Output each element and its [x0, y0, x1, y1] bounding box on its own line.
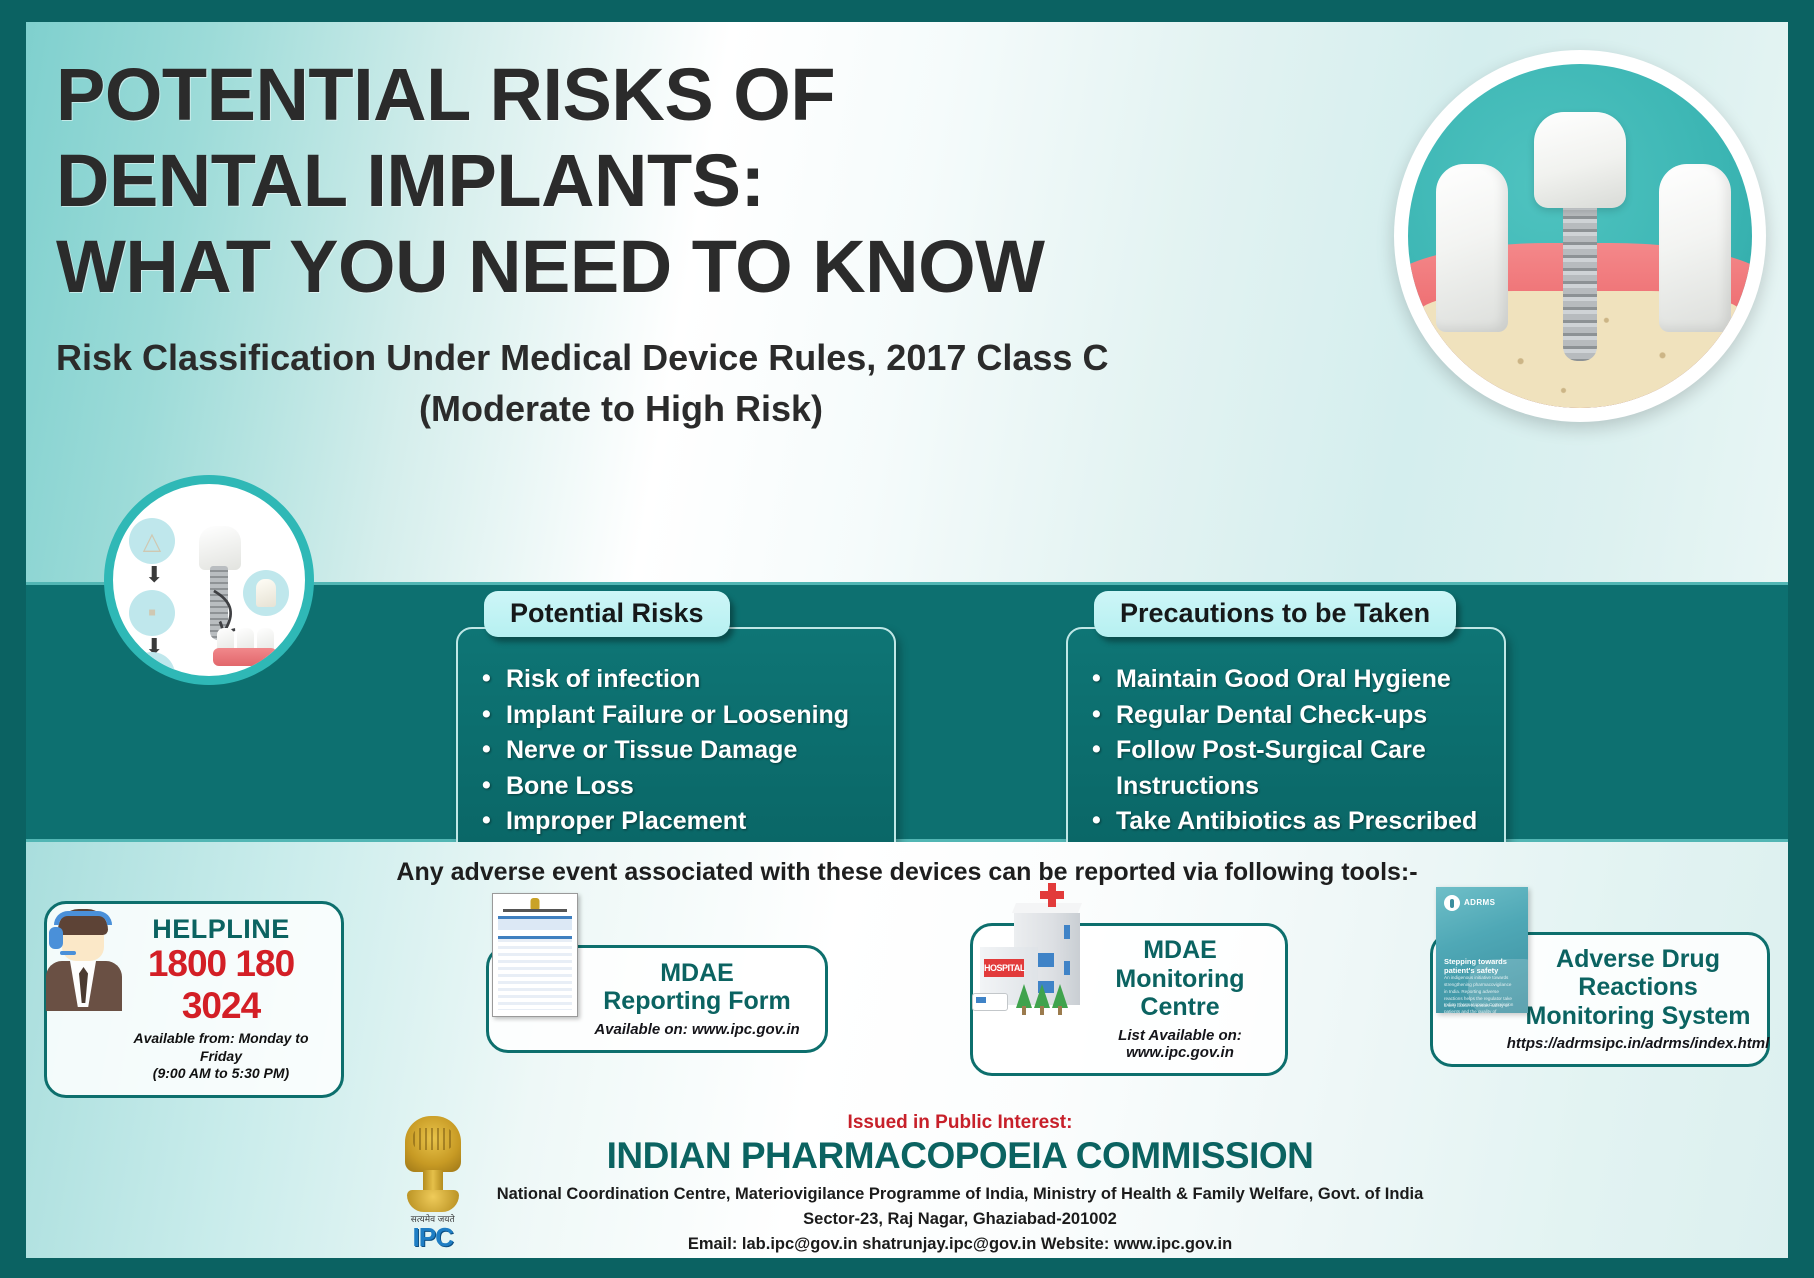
list-item: Maintain Good Oral Hygiene: [1086, 663, 1488, 697]
abutment-step-icon: ▪: [129, 590, 175, 636]
emblem-stem: [423, 1170, 443, 1192]
precautions-body: Maintain Good Oral Hygiene Regular Denta…: [1066, 627, 1506, 859]
reporting-instruction: Any adverse event associated with these …: [26, 858, 1788, 887]
adrms-title-line1: Adverse Drug: [1507, 945, 1770, 974]
list-item: Follow Post-Surgical Care: [1086, 734, 1488, 768]
organization-name: INDIAN PHARMACOPOEIA COMMISSION: [497, 1136, 1424, 1177]
helpline-availability-line2: (9:00 AM to 5:30 PM): [117, 1065, 325, 1083]
helpline-label: HELPLINE: [117, 914, 325, 945]
risks-precautions-band: △ ⬇ ▪ ⬇ ⚇ ⤵ Potential Risks: [26, 582, 1788, 842]
mdae-centre-availability: List Available on: www.ipc.gov.in: [1091, 1027, 1269, 1061]
header-text-block: POTENTIAL RISKS OF DENTAL IMPLANTS: WHAT…: [26, 22, 1788, 430]
tree-icon-3: [1052, 985, 1068, 1015]
poster-inner: POTENTIAL RISKS OF DENTAL IMPLANTS: WHAT…: [26, 22, 1788, 1258]
page-title-line-1: POTENTIAL RISKS OF: [56, 52, 1788, 138]
mdae-form-text: MDAE Reporting Form Available on: www.ip…: [594, 959, 799, 1038]
list-item: Implant Failure or Loosening: [476, 699, 878, 733]
address-line-3: Email: lab.ipc@gov.in shatrunjay.ipc@gov…: [497, 1232, 1424, 1257]
ipc-emblem-icon: सत्यमेव जयते IPC: [391, 1116, 475, 1248]
adrms-brochure-body: An indigenous initiative towards strengt…: [1444, 975, 1514, 1013]
risk-classification-subtitle: Risk Classification Under Medical Device…: [56, 335, 1788, 382]
adrms-brochure-heading: Stepping towards patient's safety: [1444, 957, 1508, 976]
precautions-heading: Precautions to be Taken: [1094, 591, 1456, 637]
footer-section: सत्यमेव जयते IPC Issued in Public Intere…: [26, 1112, 1788, 1257]
diagram-gum-result-icon: [213, 626, 277, 666]
adrms-brand-label: ADRMS: [1464, 898, 1495, 907]
mdae-form-availability: Available on: www.ipc.gov.in: [594, 1021, 799, 1038]
band-cards: Potential Risks Risk of infection Implan…: [456, 607, 1754, 821]
adrms-brochure-icon: ADRMS Stepping towards patient's safety …: [1436, 887, 1528, 1013]
ipc-logo-label: IPC: [401, 1222, 465, 1253]
support-agent-icon: [40, 905, 126, 1009]
list-item: Improper Placement: [476, 805, 878, 839]
list-item-continuation: Instructions: [1086, 770, 1488, 804]
potential-risks-list: Risk of infection Implant Failure or Loo…: [476, 663, 878, 839]
helpline-number: 1800 180 3024: [117, 943, 325, 1027]
list-item: Nerve or Tissue Damage: [476, 734, 878, 768]
diagram-crown-icon: [199, 526, 241, 570]
tools-row: HELPLINE 1800 180 3024 Available from: M…: [26, 901, 1788, 1098]
adrms-logo-icon: [1444, 895, 1460, 911]
down-arrow-icon-1: ⬇: [145, 562, 163, 588]
band-inner: △ ⬇ ▪ ⬇ ⚇ ⤵ Potential Risks: [26, 585, 1788, 839]
reporting-form-document-icon: [492, 893, 578, 1017]
list-item: Take Antibiotics as Prescribed: [1086, 805, 1488, 839]
footer-text-block: Issued in Public Interest: INDIAN PHARMA…: [497, 1112, 1424, 1257]
helpline-availability-line1: Available from: Monday to Friday: [117, 1030, 325, 1065]
precautions-card: Precautions to be Taken Maintain Good Or…: [1066, 607, 1506, 821]
adrms-url[interactable]: https://adrmsipc.in/adrms/index.html: [1507, 1035, 1770, 1052]
address-line-1: National Coordination Centre, Materiovig…: [497, 1182, 1424, 1207]
list-item: Regular Dental Check-ups: [1086, 699, 1488, 733]
red-cross-icon-h: [1040, 891, 1064, 899]
crown-step-icon: △: [129, 518, 175, 564]
precautions-list: Maintain Good Oral Hygiene Regular Denta…: [1086, 663, 1488, 839]
gum-bar: [213, 648, 277, 666]
mdae-form-title-line1: MDAE: [594, 959, 799, 988]
implant-procedure-diagram: △ ⬇ ▪ ⬇ ⚇ ⤵: [104, 475, 314, 685]
tool-adrms[interactable]: ADRMS Stepping towards patient's safety …: [1430, 901, 1770, 1098]
tree-icon-1: [1016, 985, 1032, 1015]
mdae-form-title-line2: Reporting Form: [594, 987, 799, 1016]
mdae-centre-title-line1: MDAE: [1091, 936, 1269, 965]
tree-icon-2: [1034, 985, 1050, 1015]
list-item: Risk of infection: [476, 663, 878, 697]
hospital-building-icon: HOSPITAL: [968, 891, 1094, 1019]
address-line-2: Sector-23, Raj Nagar, Ghaziabad-201002: [497, 1207, 1424, 1232]
tool-mdae-reporting-form[interactable]: MDAE Reporting Form Available on: www.ip…: [486, 901, 828, 1098]
list-item: Bone Loss: [476, 770, 878, 804]
page-title-line-2: DENTAL IMPLANTS:: [56, 138, 1788, 224]
risk-level-subtitle: (Moderate to High Risk): [56, 388, 1186, 430]
helpline-text: HELPLINE 1800 180 3024 Available from: M…: [117, 914, 325, 1083]
screw-step-icon: ⚇: [129, 652, 175, 685]
issued-in-public-interest: Issued in Public Interest:: [497, 1112, 1424, 1134]
adrms-title-line3: Monitoring System: [1507, 1002, 1770, 1031]
potential-risks-card: Potential Risks Risk of infection Implan…: [456, 607, 896, 821]
ashoka-lions-icon: [405, 1116, 461, 1172]
mdae-centre-text: MDAE Monitoring Centre List Available on…: [1091, 936, 1269, 1061]
tool-mdae-monitoring-centre[interactable]: HOSPITAL MDAE Monitoring Centre: [970, 901, 1288, 1098]
page-title-line-3: WHAT YOU NEED TO KNOW: [56, 224, 1788, 310]
adrms-text: Adverse Drug Reactions Monitoring System…: [1507, 945, 1770, 1053]
header-section: POTENTIAL RISKS OF DENTAL IMPLANTS: WHAT…: [26, 22, 1788, 582]
adrms-brochure-footer: Indian Pharmacopoeia Commission: [1444, 1002, 1513, 1007]
adrms-title-line2: Reactions: [1507, 973, 1770, 1002]
hospital-sign-label: HOSPITAL: [984, 959, 1024, 977]
potential-risks-heading: Potential Risks: [484, 591, 730, 637]
potential-risks-body: Risk of infection Implant Failure or Loo…: [456, 627, 896, 859]
emblem-base: [407, 1190, 459, 1212]
reporting-tools-section: Any adverse event associated with these …: [26, 842, 1788, 1258]
infographic-poster: POTENTIAL RISKS OF DENTAL IMPLANTS: WHAT…: [0, 0, 1814, 1278]
tool-helpline[interactable]: HELPLINE 1800 180 3024 Available from: M…: [44, 901, 344, 1098]
ambulance-icon: [972, 993, 1008, 1011]
mdae-centre-title-line2: Monitoring Centre: [1091, 965, 1269, 1022]
diagram-tooth-icon: [243, 570, 289, 616]
